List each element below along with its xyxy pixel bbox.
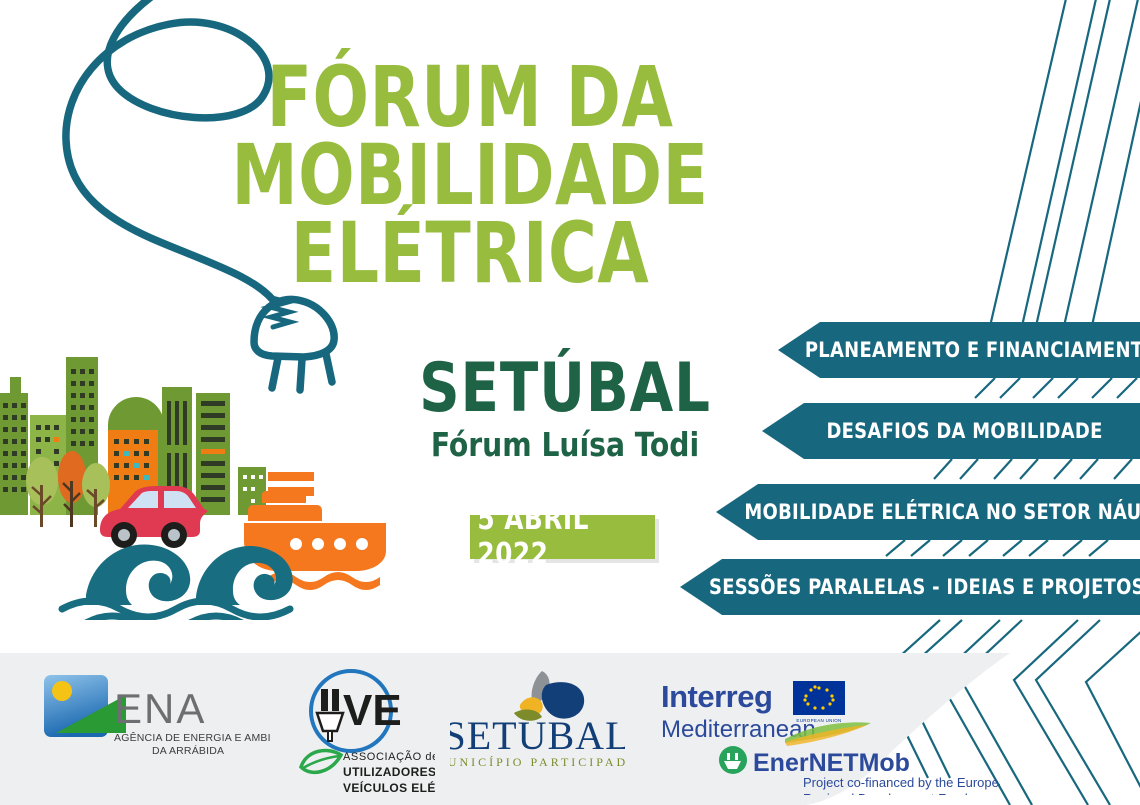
funding-note-line1: Project co-financed by the European: [803, 775, 1000, 790]
logo-uve-line3: VEÍCULOS ELÉTRICOS: [343, 780, 435, 795]
headline-line-2: MOBILIDADE ELÉTRICA: [56, 136, 883, 292]
topic-banner-label: SESSÕES PARALELAS - IDEIAS E PROJETOS: [692, 575, 1140, 599]
logo-uve-line1: ASSOCIAÇÃO de: [343, 750, 435, 763]
svg-text:VE: VE: [343, 686, 402, 735]
logo-enernetmob-name: EnerNETMob: [753, 749, 910, 777]
city-waterfront-illustration: [0, 345, 420, 620]
event-venue: Fórum Luísa Todi: [408, 423, 722, 468]
event-date-label: 5 ABRIL 2022: [477, 502, 647, 572]
topic-banner-planeamento[interactable]: PLANEAMENTO E FINANCIAMENTO: [778, 322, 1140, 378]
logo-interreg-name: Interreg: [661, 679, 772, 714]
topic-banner-nautico[interactable]: MOBILIDADE ELÉTRICA NO SETOR NÁUTICO: [716, 484, 1140, 540]
logo-uve: VE ASSOCIAÇÃO de UTILIZADORES DE VEÍCULO…: [285, 663, 435, 803]
headline-line-1: FÓRUM DA: [56, 58, 883, 136]
logo-ena-line1: AGÊNCIA DE ENERGIA E AMBIENTE: [114, 731, 270, 744]
logo-setubal: SETUBAL MUNICÍPIO PARTICIPADO: [450, 669, 625, 774]
logo-interreg-enernetmob: Interreg EUROPEAN UNION Mediterranean: [655, 675, 1000, 795]
topic-banner-label: DESAFIOS DA MOBILIDADE: [772, 419, 1140, 443]
logo-ena: ENA AGÊNCIA DE ENERGIA E AMBIENTE DA ARR…: [40, 671, 270, 771]
topic-banner-label: PLANEAMENTO E FINANCIAMENTO: [788, 338, 1140, 362]
event-city: SETÚBAL: [413, 355, 717, 423]
logo-uve-line2: UTILIZADORES DE: [343, 765, 435, 779]
poster-canvas: FÓRUM DA MOBILIDADE ELÉTRICA: [0, 0, 1140, 805]
partner-logos: ENA AGÊNCIA DE ENERGIA E AMBIENTE DA ARR…: [0, 653, 1040, 805]
logo-setubal-tagline: MUNICÍPIO PARTICIPADO: [450, 755, 625, 769]
topic-banner-desafios[interactable]: DESAFIOS DA MOBILIDADE: [762, 403, 1140, 459]
logo-setubal-name: SETUBAL: [450, 713, 625, 758]
logo-ena-line2: DA ARRÁBIDA: [152, 744, 224, 757]
event-date-badge: 5 ABRIL 2022: [470, 515, 655, 559]
poster-headline: FÓRUM DA MOBILIDADE ELÉTRICA: [0, 58, 940, 292]
funding-note-line2: Regional Development Fund: [803, 791, 968, 795]
svg-text:ENA: ENA: [114, 685, 206, 732]
footer-logo-bar: ENA AGÊNCIA DE ENERGIA E AMBIENTE DA ARR…: [0, 653, 1140, 805]
event-location-block: SETÚBAL Fórum Luísa Todi: [400, 355, 730, 468]
topic-banner-sessoes-paralelas[interactable]: SESSÕES PARALELAS - IDEIAS E PROJETOS: [680, 559, 1140, 615]
topic-banner-label: MOBILIDADE ELÉTRICA NO SETOR NÁUTICO: [727, 500, 1140, 524]
